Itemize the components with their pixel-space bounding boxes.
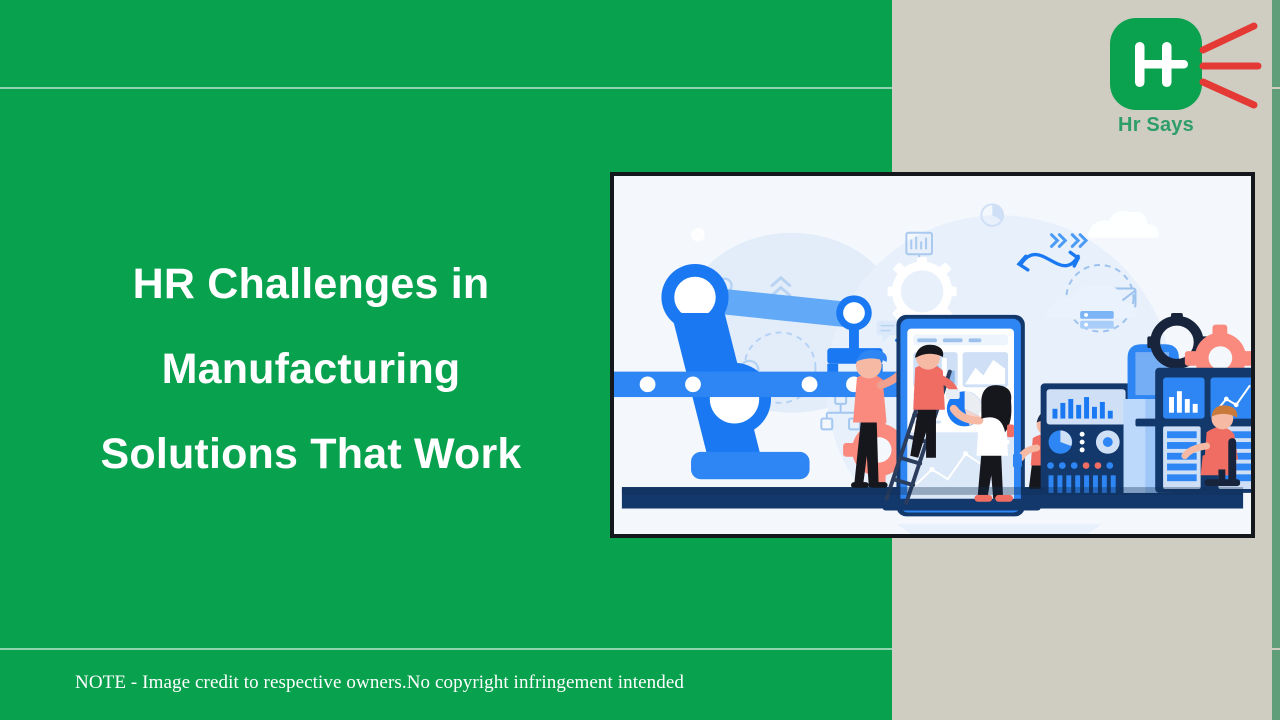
illustration-graphic	[614, 176, 1251, 534]
title-line-3: Solutions That Work	[0, 412, 622, 497]
brand-logo[interactable]: Hr Says	[1110, 18, 1270, 143]
speech-rays-icon	[1196, 20, 1270, 110]
title-line-1: HR Challenges in	[0, 242, 622, 327]
control-panel-gauges	[1041, 383, 1132, 493]
bottom-rule-beige-mask	[892, 648, 1280, 650]
copyright-note: NOTE - Image credit to respective owners…	[75, 672, 684, 694]
slide-canvas: HR Challenges in Manufacturing Solutions…	[0, 0, 1280, 720]
right-workstation	[1155, 368, 1251, 493]
right-edge-strip	[1272, 0, 1280, 720]
logo-wordmark: Hr Says	[1110, 114, 1202, 137]
hero-illustration	[610, 172, 1255, 538]
title-line-2: Manufacturing	[0, 327, 622, 412]
letter-h-icon	[1110, 18, 1202, 110]
